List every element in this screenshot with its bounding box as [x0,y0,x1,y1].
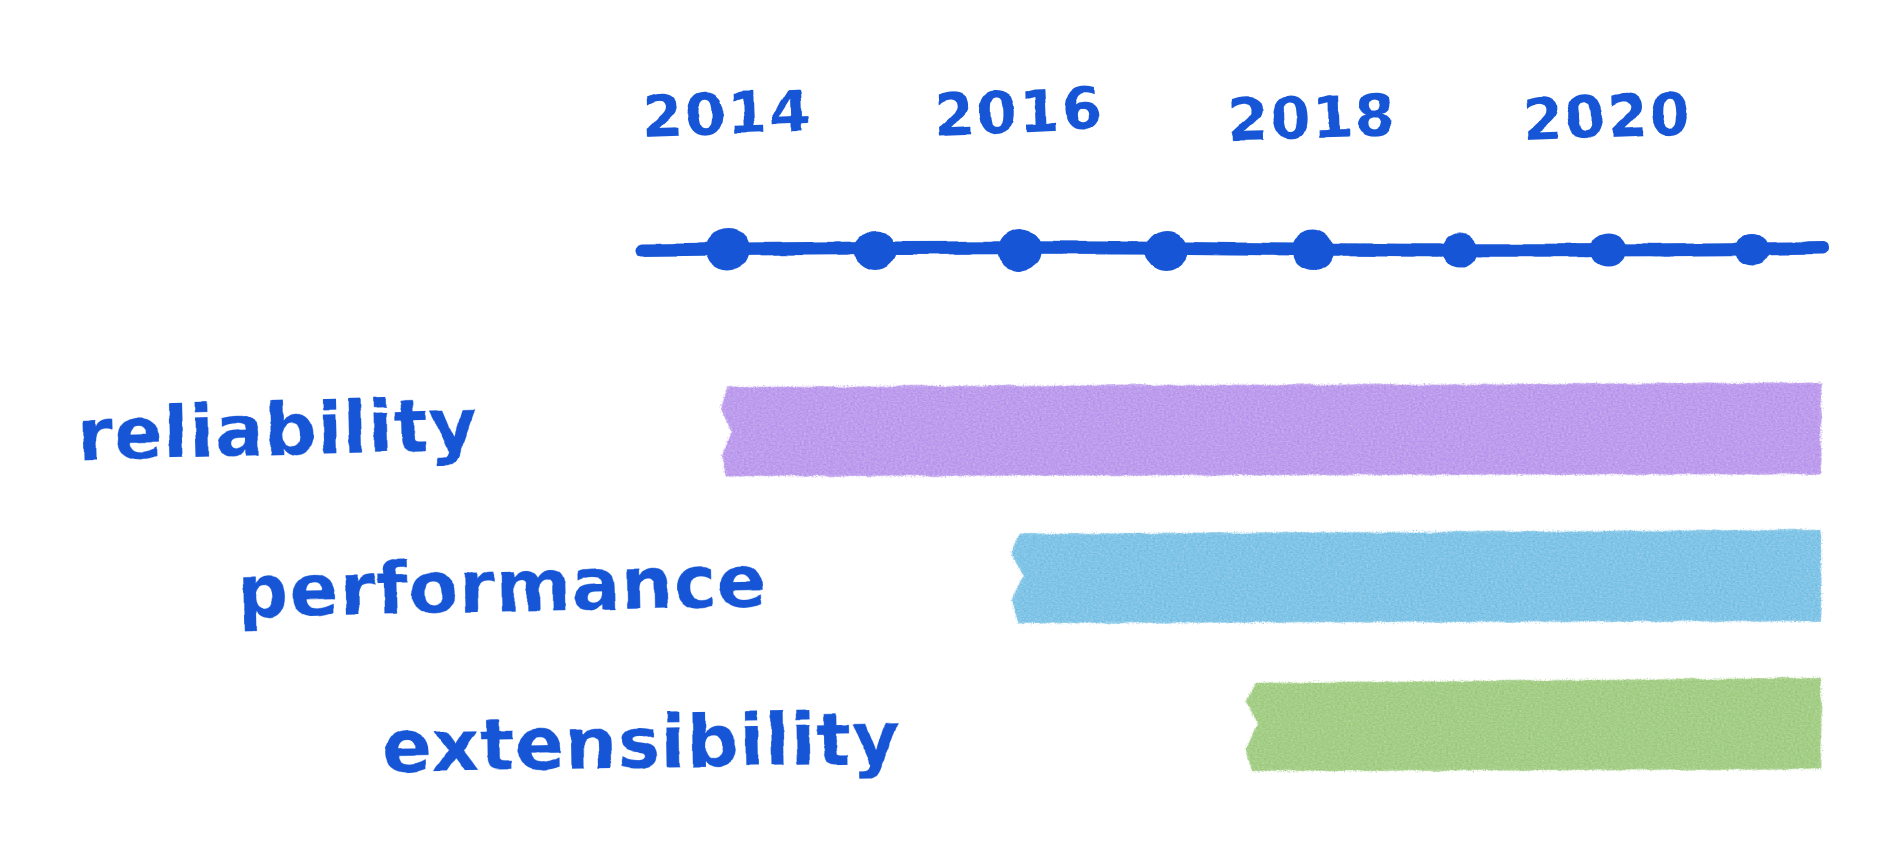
year-label-2020: 2020 [1521,80,1693,154]
row-label-reliability: reliability [76,383,478,477]
timeline-dot[interactable] [1735,233,1769,265]
timeline-dot[interactable] [854,230,896,270]
timeline-dot[interactable] [998,229,1042,271]
timeline-dot[interactable] [706,228,750,270]
timeline-dot[interactable] [1590,233,1626,267]
row-label-extensibility: extensibility [382,696,901,789]
bar-extensibility-grain [1246,678,1821,771]
row-extensibility: extensibility [382,678,1821,789]
timeline-dot[interactable] [1442,233,1478,267]
year-labels: 2014 2016 2018 2020 [641,74,1693,154]
timeline-axis [642,228,1822,271]
row-reliability: reliability [76,383,1821,477]
bar-performance-grain [1011,530,1821,623]
year-label-2018: 2018 [1227,82,1398,154]
chart-canvas: 2014 2016 2018 2020 reliability [0,0,1900,854]
timeline-axis-line [642,248,1822,251]
bar-reliability-grain [721,383,1821,476]
timeline-dot[interactable] [1145,231,1187,271]
year-label-2016: 2016 [933,74,1105,149]
year-label-2014: 2014 [641,77,813,151]
row-label-performance: performance [237,539,768,634]
timeline-dot[interactable] [1292,230,1334,270]
bar-reliability[interactable] [721,383,1821,476]
bar-performance[interactable] [1011,530,1821,623]
timeline-chart: 2014 2016 2018 2020 reliability [0,0,1900,854]
row-performance: performance [237,530,1821,634]
bar-extensibility[interactable] [1246,678,1821,771]
